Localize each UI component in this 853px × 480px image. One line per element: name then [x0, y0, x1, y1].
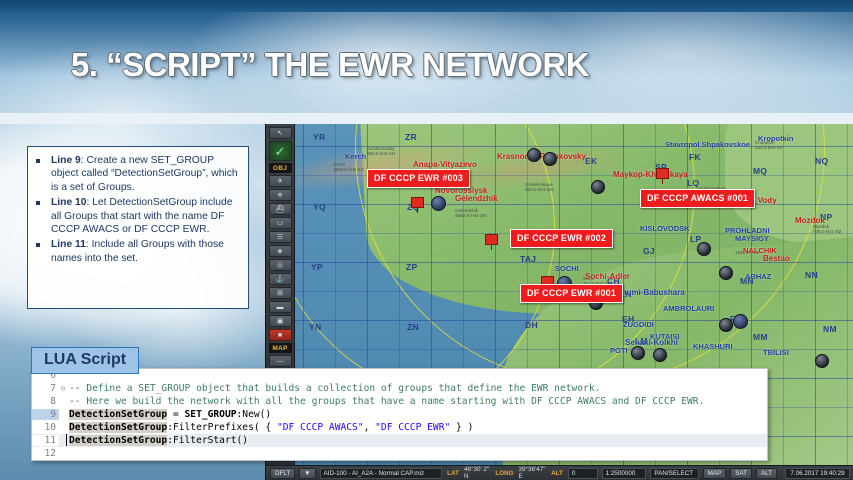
pan-select-mode[interactable]: PAN/SELECT — [650, 468, 698, 479]
map-place-label: ABHAZ — [745, 272, 771, 281]
unit-radar-icon[interactable] — [733, 314, 748, 329]
page-title: 5. “SCRIPT” THE EWR NETWORK — [0, 46, 660, 84]
navaid-beacon-label: Kerch 1850.0 kHz KC — [333, 162, 364, 172]
toolbar-ruler-icon[interactable]: — — [269, 355, 292, 367]
unit-group-icon[interactable] — [719, 266, 733, 280]
grid-square-label: YR — [313, 132, 325, 142]
map-place-label: Mozdok — [795, 216, 825, 225]
layer-toggle-map[interactable]: MAP — [703, 468, 727, 479]
toolbar-warehouse-icon[interactable]: ▣ — [269, 315, 292, 327]
line-number: 7 — [32, 383, 59, 394]
unit-awacs-001[interactable] — [656, 168, 669, 179]
grid-square-label: TAJ — [520, 254, 536, 264]
toolbar-select-arrow-icon[interactable]: ↖ — [269, 127, 292, 139]
code-text: -- Define a SET_GROUP object that builds… — [67, 383, 767, 394]
unit-group-icon[interactable] — [653, 348, 667, 362]
toolbar-vehicle-icon[interactable]: ▭ — [269, 217, 292, 229]
code-token: "DF CCCP EWR" — [375, 422, 450, 433]
unit-group-icon[interactable] — [591, 180, 605, 194]
code-text: DetectionSetGroup:FilterPrefixes( { "DF … — [67, 422, 767, 433]
list-item: Line 9: Create a new SET_GROUP object ca… — [34, 154, 240, 194]
unit-ewr-002[interactable] — [485, 234, 498, 245]
grid-square-label: ZP — [406, 262, 417, 272]
unit-radar-icon[interactable] — [431, 196, 446, 211]
unit-group-icon[interactable] — [527, 148, 541, 162]
scale-field[interactable]: 1:2500000 — [602, 468, 647, 479]
toolbar-trigger-zone-icon[interactable]: ◎ — [269, 259, 292, 271]
map-place-label: Bestao — [763, 254, 790, 263]
map-place-label: Senaki-Kolkhi — [625, 338, 678, 347]
layer-toggle-alt[interactable]: ALT — [756, 468, 777, 479]
map-place-label: MAYSIGY — [735, 234, 769, 243]
navaid-beacon-label: Smolenskaya 620.0 kHz DN — [525, 182, 554, 192]
navaid-beacon-label: Achillesovsky 800.5 kHz AH — [367, 146, 395, 156]
code-token: "DF CCCP AWACS" — [277, 422, 364, 433]
code-text: DetectionSetGroup = SET_GROUP:New() — [67, 409, 767, 420]
code-line[interactable]: 6 — [32, 369, 767, 382]
toolbar-ship-icon[interactable]: ⛴ — [269, 203, 292, 215]
map-place-label: AMBROLAURI — [663, 304, 714, 313]
grid-square-label: MQ — [753, 166, 767, 176]
code-token: } ) — [450, 422, 473, 433]
unit-group-icon[interactable] — [543, 152, 557, 166]
toolbar-train-icon[interactable]: ☰ — [269, 231, 292, 243]
grid-square-label: EK — [585, 156, 597, 166]
top-accent-band — [0, 0, 853, 12]
code-token: -- Here we build the network with all th… — [69, 396, 704, 407]
profile-button[interactable]: DFLT — [270, 468, 295, 479]
grid-square-label: ZR — [405, 132, 417, 142]
unit-callout-1: DF CCCP EWR #003 — [367, 169, 470, 188]
lua-code-editor[interactable]: 67⊖-- Define a SET_GROUP object that bui… — [31, 368, 768, 461]
map-place-label: SOCHI — [555, 264, 579, 273]
map-place-label: ZUGDIDI — [623, 320, 654, 329]
unit-group-icon[interactable] — [719, 318, 733, 332]
unit-group-icon[interactable] — [631, 346, 645, 360]
code-token: :FilterPrefixes( { — [167, 422, 277, 433]
mission-name-field[interactable]: AID-100 - AI_A2A - Normal CAP.miz — [320, 468, 443, 479]
line-number: 10 — [32, 422, 59, 433]
unit-group-icon[interactable] — [815, 354, 829, 368]
toolbar-section-obj: OBJ — [269, 163, 292, 173]
code-line[interactable]: 12 — [32, 447, 767, 460]
line-number: 11 — [32, 435, 59, 446]
code-line[interactable]: 8-- Here we build the network with all t… — [32, 395, 767, 408]
map-place-label: Stavropol Shpakovskoe — [665, 140, 750, 149]
toolbar-section-map: MAP — [269, 343, 292, 353]
grid-line-horizontal — [295, 320, 853, 321]
bullet-lead: Line 10 — [51, 197, 86, 208]
code-text: DetectionSetGroup:FilterStart() — [67, 435, 767, 446]
map-place-label: Gelendzhik — [455, 194, 498, 203]
toolbar-farp-icon[interactable]: ⊞ — [269, 287, 292, 299]
slide-canvas: 5. “SCRIPT” THE EWR NETWORK Line 9: Crea… — [0, 0, 853, 480]
line-number: 12 — [32, 448, 59, 459]
map-place-label: Sochi-Adler — [585, 272, 630, 281]
grid-square-label: NQ — [815, 156, 828, 166]
toolbar-confirm-check-icon[interactable]: ✓ — [269, 141, 292, 161]
lat-label: LAT — [446, 470, 460, 477]
long-label: LONG — [494, 470, 514, 477]
grid-square-label: MM — [753, 332, 768, 342]
bullet-lead: Line 11 — [51, 239, 86, 250]
line-number: 8 — [32, 396, 59, 407]
code-line[interactable]: 7⊖-- Define a SET_GROUP object that buil… — [32, 382, 767, 395]
map-place-label: KISLOVODSK — [640, 224, 690, 233]
toolbar-airplane-icon[interactable]: ✈ — [269, 175, 292, 187]
unit-callout-4: DF CCCP EWR #001 — [520, 284, 623, 303]
code-line[interactable]: 10DetectionSetGroup:FilterPrefixes( { "D… — [32, 421, 767, 434]
grid-square-label: LQ — [687, 178, 699, 188]
grid-square-label: DH — [525, 320, 538, 330]
grid-square-label: YP — [311, 262, 323, 272]
title-band-strip — [0, 113, 853, 124]
lua-script-label: LUA Script — [31, 347, 139, 374]
grid-square-label: YQ — [313, 202, 326, 212]
code-line[interactable]: 11DetectionSetGroup:FilterStart() — [32, 434, 767, 447]
code-token: DetectionSetGroup — [69, 435, 167, 446]
map-place-label: Maykop-Khanskaya — [613, 170, 688, 179]
toolbar-failure-icon[interactable]: ■ — [269, 329, 292, 341]
toolbar-cargo-icon[interactable]: ▬ — [269, 301, 292, 313]
bullet-callout-box: Line 9: Create a new SET_GROUP object ca… — [27, 146, 249, 309]
map-place-label: Kerch — [345, 152, 366, 161]
alt-field[interactable]: 0 — [568, 468, 598, 479]
toolbar-waypoint-icon[interactable]: ◈ — [269, 245, 292, 257]
mission-datetime: 7.06.2017 19:40:29 — [785, 468, 850, 479]
code-token: = — [167, 409, 184, 420]
code-token: DetectionSetGroup — [69, 409, 167, 420]
map-place-label: Anapa-Vityazevo — [413, 160, 477, 169]
bullet-lead: Line 9 — [51, 155, 81, 166]
long-value: 39°36'47" E — [519, 466, 547, 480]
code-text: -- Here we build the network with all th… — [67, 396, 767, 407]
lat-value: 46°30' 2" N — [464, 466, 490, 480]
map-place-label: Kropotkin — [758, 134, 793, 143]
map-place-label: POTI — [610, 346, 628, 355]
grid-square-label: GJ — [643, 246, 655, 256]
code-token: DetectionSetGroup — [69, 422, 167, 433]
layer-toggle-sat[interactable]: SAT — [730, 468, 752, 479]
navaid-beacon-label: Gelendzhik 3560.0 kHz GN — [455, 208, 486, 218]
code-token: :FilterStart() — [167, 435, 248, 446]
map-place-label: TBILISI — [763, 348, 789, 357]
map-place-label: KHASHURI — [693, 342, 733, 351]
unit-ewr-003[interactable] — [411, 197, 424, 208]
map-place-label: Krasnodar-Pashkovsky — [497, 152, 586, 161]
grid-square-label: YN — [309, 322, 321, 332]
line-number: 9 — [32, 409, 59, 420]
list-item: Line 11: Include all Groups with those n… — [34, 238, 240, 265]
code-token: SET_GROUP — [185, 409, 237, 420]
code-token: -- Define a SET_GROUP object that builds… — [69, 383, 600, 394]
status-bar: DFLT ▼ AID-100 - AI_A2A - Normal CAP.miz… — [266, 465, 853, 480]
alt-label: ALT — [550, 470, 564, 477]
grid-square-label: FK — [689, 152, 701, 162]
grid-square-label: NM — [823, 324, 837, 334]
code-token: :New() — [237, 409, 272, 420]
bullet-list: Line 9: Create a new SET_GROUP object ca… — [34, 154, 240, 265]
navaid-beacon-label: Mozdok 735.0 kHz MZ — [813, 224, 842, 234]
code-line[interactable]: 9DetectionSetGroup = SET_GROUP:New() — [32, 408, 767, 421]
grid-square-label: ZN — [407, 322, 419, 332]
toolbar-static-object-icon[interactable]: ⚓ — [269, 273, 292, 285]
code-token: , — [364, 422, 376, 433]
code-fold-icon[interactable]: ⊖ — [59, 384, 67, 393]
unit-callout-3: DF CCCP EWR #002 — [510, 229, 613, 248]
profile-dropdown-icon[interactable]: ▼ — [299, 468, 315, 479]
toolbar-helicopter-icon[interactable]: ⎈ — [269, 189, 292, 201]
grid-square-label: NN — [805, 270, 818, 280]
unit-group-icon[interactable] — [697, 242, 711, 256]
unit-callout-2: DF CCCP AWACS #001 — [640, 189, 755, 208]
list-item: Line 10: Let DetectionSetGroup include a… — [34, 196, 240, 236]
